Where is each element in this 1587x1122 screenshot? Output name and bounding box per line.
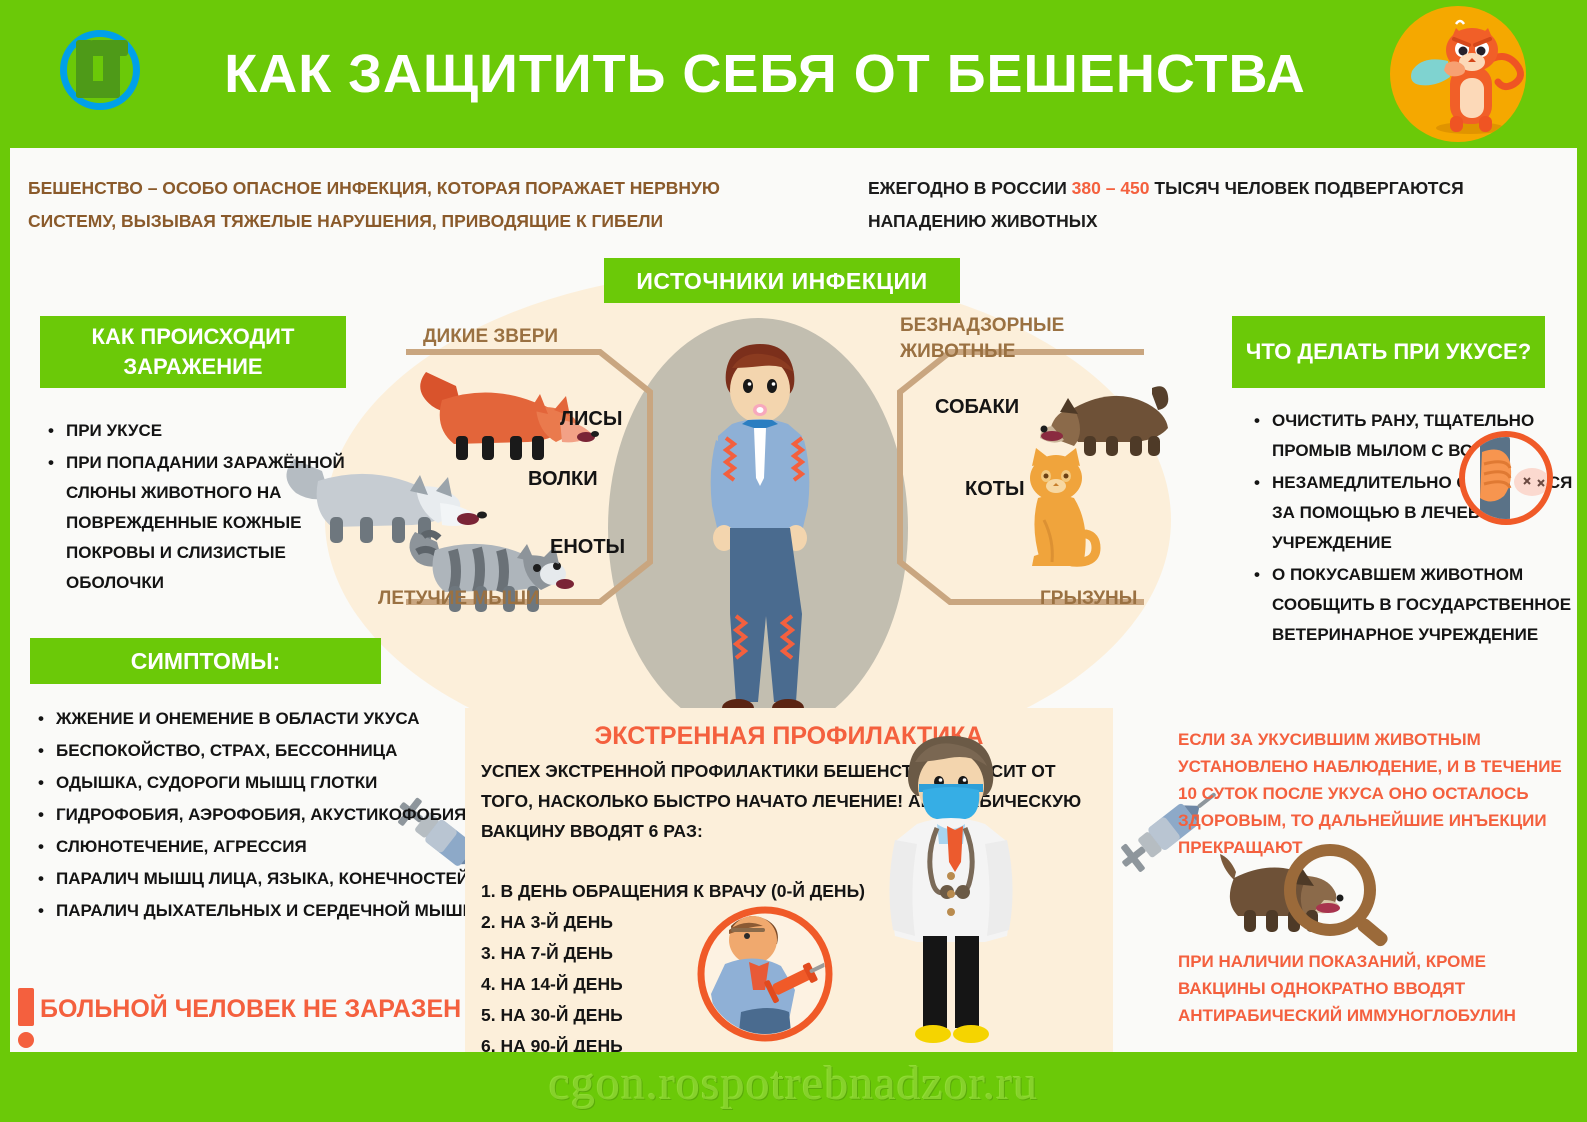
step-item: 2. НА 3-Й ДЕНЬ — [481, 907, 901, 938]
bitten-person-illustration — [670, 338, 850, 738]
label-stray-animals: БЕЗНАДЗОРНЫЕ ЖИВОТНЫЕ — [900, 313, 1100, 365]
cgon-logo — [52, 22, 156, 126]
bite-heading: ЧТО ДЕЛАТЬ ПРИ УКУСЕ? — [1232, 316, 1545, 388]
infection-heading: КАК ПРОИСХОДИТ ЗАРАЖЕНИЕ — [40, 316, 346, 388]
intro-definition: БЕШЕНСТВО – ОСОБО ОПАСНОЕ ИНФЕКЦИЯ, КОТО… — [28, 172, 728, 238]
list-item: ПРИ ПОПАДАНИИ ЗАРАЖЁННОЙ СЛЮНЫ ЖИВОТНОГО… — [66, 448, 356, 598]
stray-cat-illustration — [1010, 448, 1120, 578]
label-wild-animals: ДИКИЕ ЗВЕРИ — [423, 326, 558, 348]
step-item: 5. НА 30-Й ДЕНЬ — [481, 1000, 901, 1031]
page-title: КАК ЗАЩИТИТЬ СЕБЯ ОТ БЕШЕНСТВА — [180, 30, 1350, 118]
emergency-prophylaxis-panel: ЭКСТРЕННАЯ ПРОФИЛАКТИКА УСПЕХ ЭКСТРЕННОЙ… — [465, 708, 1113, 1052]
stat-prefix: ЕЖЕГОДНО В РОССИИ — [868, 178, 1072, 198]
list-item: СЛЮНОТЕЧЕНИЕ, АГРЕССИЯ — [56, 832, 486, 862]
sources-banner: ИСТОЧНИКИ ИНФЕКЦИИ — [604, 258, 960, 303]
logo-monogram-icon — [76, 40, 128, 100]
infection-list: ПРИ УКУСЕ ПРИ ПОПАДАНИИ ЗАРАЖЁННОЙ СЛЮНЫ… — [44, 416, 356, 600]
step-item: 4. НА 14-Й ДЕНЬ — [481, 969, 901, 1000]
label-cats: КОТЫ — [965, 478, 1025, 501]
label-bats: ЛЕТУЧИЕ МЫШИ — [378, 588, 540, 610]
angry-cat-badge — [1390, 6, 1526, 142]
list-item: ОДЫШКА, СУДОРОГИ МЫШЦ ГЛОТКИ — [56, 768, 486, 798]
stray-dog-illustration — [1040, 374, 1170, 454]
site-watermark: cgon.rospotrebnadzor.ru — [0, 1056, 1587, 1111]
exclamation-icon — [18, 988, 34, 1048]
intro-statistic: ЕЖЕГОДНО В РОССИИ 380 – 450 ТЫСЯЧ ЧЕЛОВЕ… — [868, 172, 1568, 238]
label-rodents: ГРЫЗУНЫ — [1040, 588, 1137, 610]
symptoms-list: ЖЖЕНИЕ И ОНЕМЕНИЕ В ОБЛАСТИ УКУСА БЕСПОК… — [34, 704, 486, 928]
list-item: О ПОКУСАВШЕМ ЖИВОТНОМ СООБЩИТЬ В ГОСУДАР… — [1272, 560, 1582, 650]
angry-cat-icon — [1390, 6, 1526, 142]
label-dogs: СОБАКИ — [935, 396, 1019, 419]
immunoglobulin-note: ПРИ НАЛИЧИИ ПОКАЗАНИЙ, КРОМЕ ВАКЦИНЫ ОДН… — [1178, 948, 1578, 1029]
dog-observation-illustration — [1212, 838, 1422, 958]
infographic-page: КАК ЗАЩИТИТЬ СЕБЯ ОТ БЕШЕНСТВА — [0, 0, 1587, 1122]
label-raccoons: ЕНОТЫ — [550, 536, 625, 559]
list-item: БЕСПОКОЙСТВО, СТРАХ, БЕССОННИЦА — [56, 736, 486, 766]
label-foxes: ЛИСЫ — [560, 408, 622, 431]
list-item: ГИДРОФОБИЯ, АЭРОФОБИЯ, АКУСТИКОФОБИЯ — [56, 800, 486, 830]
page-header: КАК ЗАЩИТИТЬ СЕБЯ ОТ БЕШЕНСТВА — [0, 0, 1587, 148]
label-wolves: ВОЛКИ — [528, 468, 598, 491]
step-item: 3. НА 7-Й ДЕНЬ — [481, 938, 901, 969]
not-contagious-warning: БОЛЬНОЙ ЧЕЛОВЕК НЕ ЗАРАЗЕН — [40, 993, 500, 1025]
list-item: ПРИ УКУСЕ — [66, 416, 356, 446]
list-item: ЖЖЕНИЕ И ОНЕМЕНИЕ В ОБЛАСТИ УКУСА — [56, 704, 486, 734]
content-area: БЕШЕНСТВО – ОСОБО ОПАСНОЕ ИНФЕКЦИЯ, КОТО… — [10, 148, 1577, 1052]
page-footer: cgon.rospotrebnadzor.ru — [0, 1052, 1587, 1122]
symptoms-heading: СИМПТОМЫ: — [30, 638, 381, 684]
injection-illustration — [695, 904, 835, 1044]
stat-number: 380 – 450 — [1072, 178, 1150, 198]
list-item: ПАРАЛИЧ МЫШЦ ЛИЦА, ЯЗЫКА, КОНЕЧНОСТЕЙ — [56, 864, 486, 894]
doctor-illustration — [851, 724, 1051, 1054]
prophylaxis-steps: 1. В ДЕНЬ ОБРАЩЕНИЯ К ВРАЧУ (0-Й ДЕНЬ) 2… — [481, 876, 901, 1062]
step-item: 1. В ДЕНЬ ОБРАЩЕНИЯ К ВРАЧУ (0-Й ДЕНЬ) — [481, 876, 901, 907]
list-item: ПАРАЛИЧ ДЫХАТЕЛЬНЫХ И СЕРДЕЧНОЙ МЫШЦ — [56, 896, 486, 926]
wound-washing-illustration — [1458, 430, 1554, 526]
